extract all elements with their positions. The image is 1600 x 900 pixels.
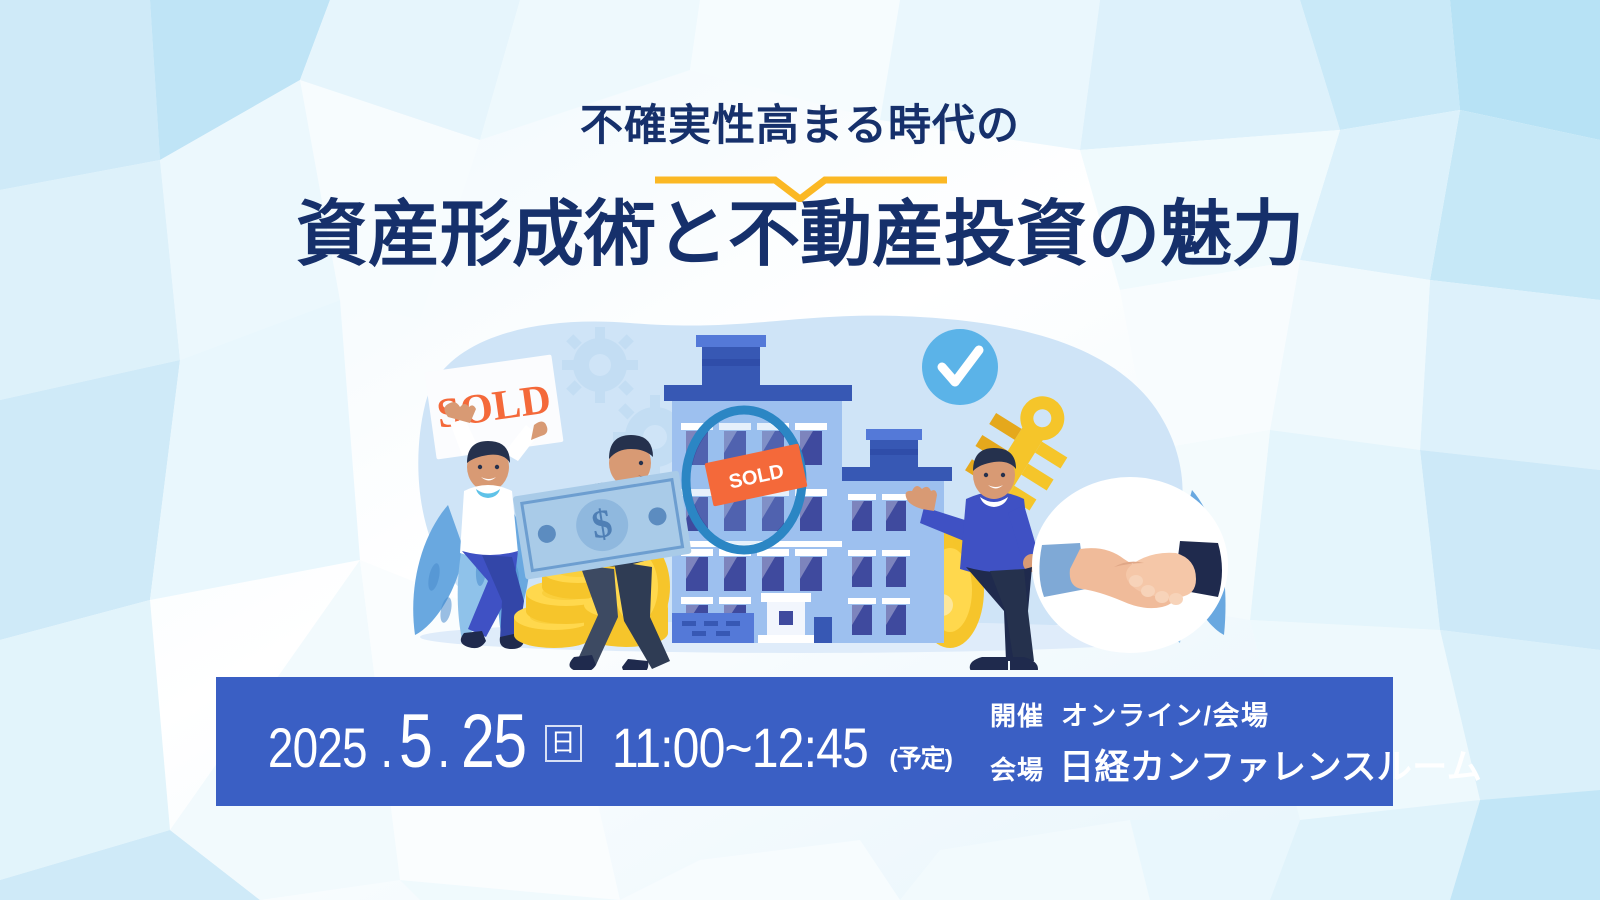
meta-label-format: 開催	[990, 696, 1044, 733]
date-separator-1: .	[380, 715, 393, 780]
meta-value-venue: 日経カンファレンスルーム	[1059, 739, 1482, 790]
date-day: 25	[461, 698, 525, 785]
banner-subtitle: 不確実性高まる時代の	[0, 103, 1600, 149]
event-banner: 不確実性高まる時代の 資産形成術と不動産投資の魅力	[0, 0, 1600, 900]
event-meta: 開催 オンライン/会場 会場 日経カンファレンスルーム	[990, 694, 1482, 790]
meta-label-venue: 会場	[990, 750, 1044, 787]
banner-title: 資産形成術と不動産投資の魅力	[0, 196, 1600, 275]
meta-value-format: オンライン/会場	[1061, 694, 1270, 733]
event-date: 2025 . 5 . 25 日 11:00~12:45 (予定)	[216, 698, 952, 785]
real-estate-illustration: SOLD SOLD	[330, 305, 1230, 670]
date-separator-2: .	[438, 715, 451, 780]
meta-row-venue: 会場 日経カンファレンスルーム	[990, 739, 1482, 790]
date-month: 5	[399, 698, 431, 785]
date-year: 2025	[268, 715, 367, 780]
event-time-note: (予定)	[889, 739, 952, 775]
meta-row-format: 開催 オンライン/会場	[990, 694, 1482, 733]
event-time: 11:00~12:45	[611, 715, 867, 780]
event-info-bar: 2025 . 5 . 25 日 11:00~12:45 (予定) 開催 オンライ…	[216, 677, 1393, 806]
handshake-icon	[1032, 477, 1228, 653]
day-of-week-badge: 日	[545, 725, 582, 762]
check-badge-icon	[922, 329, 998, 405]
